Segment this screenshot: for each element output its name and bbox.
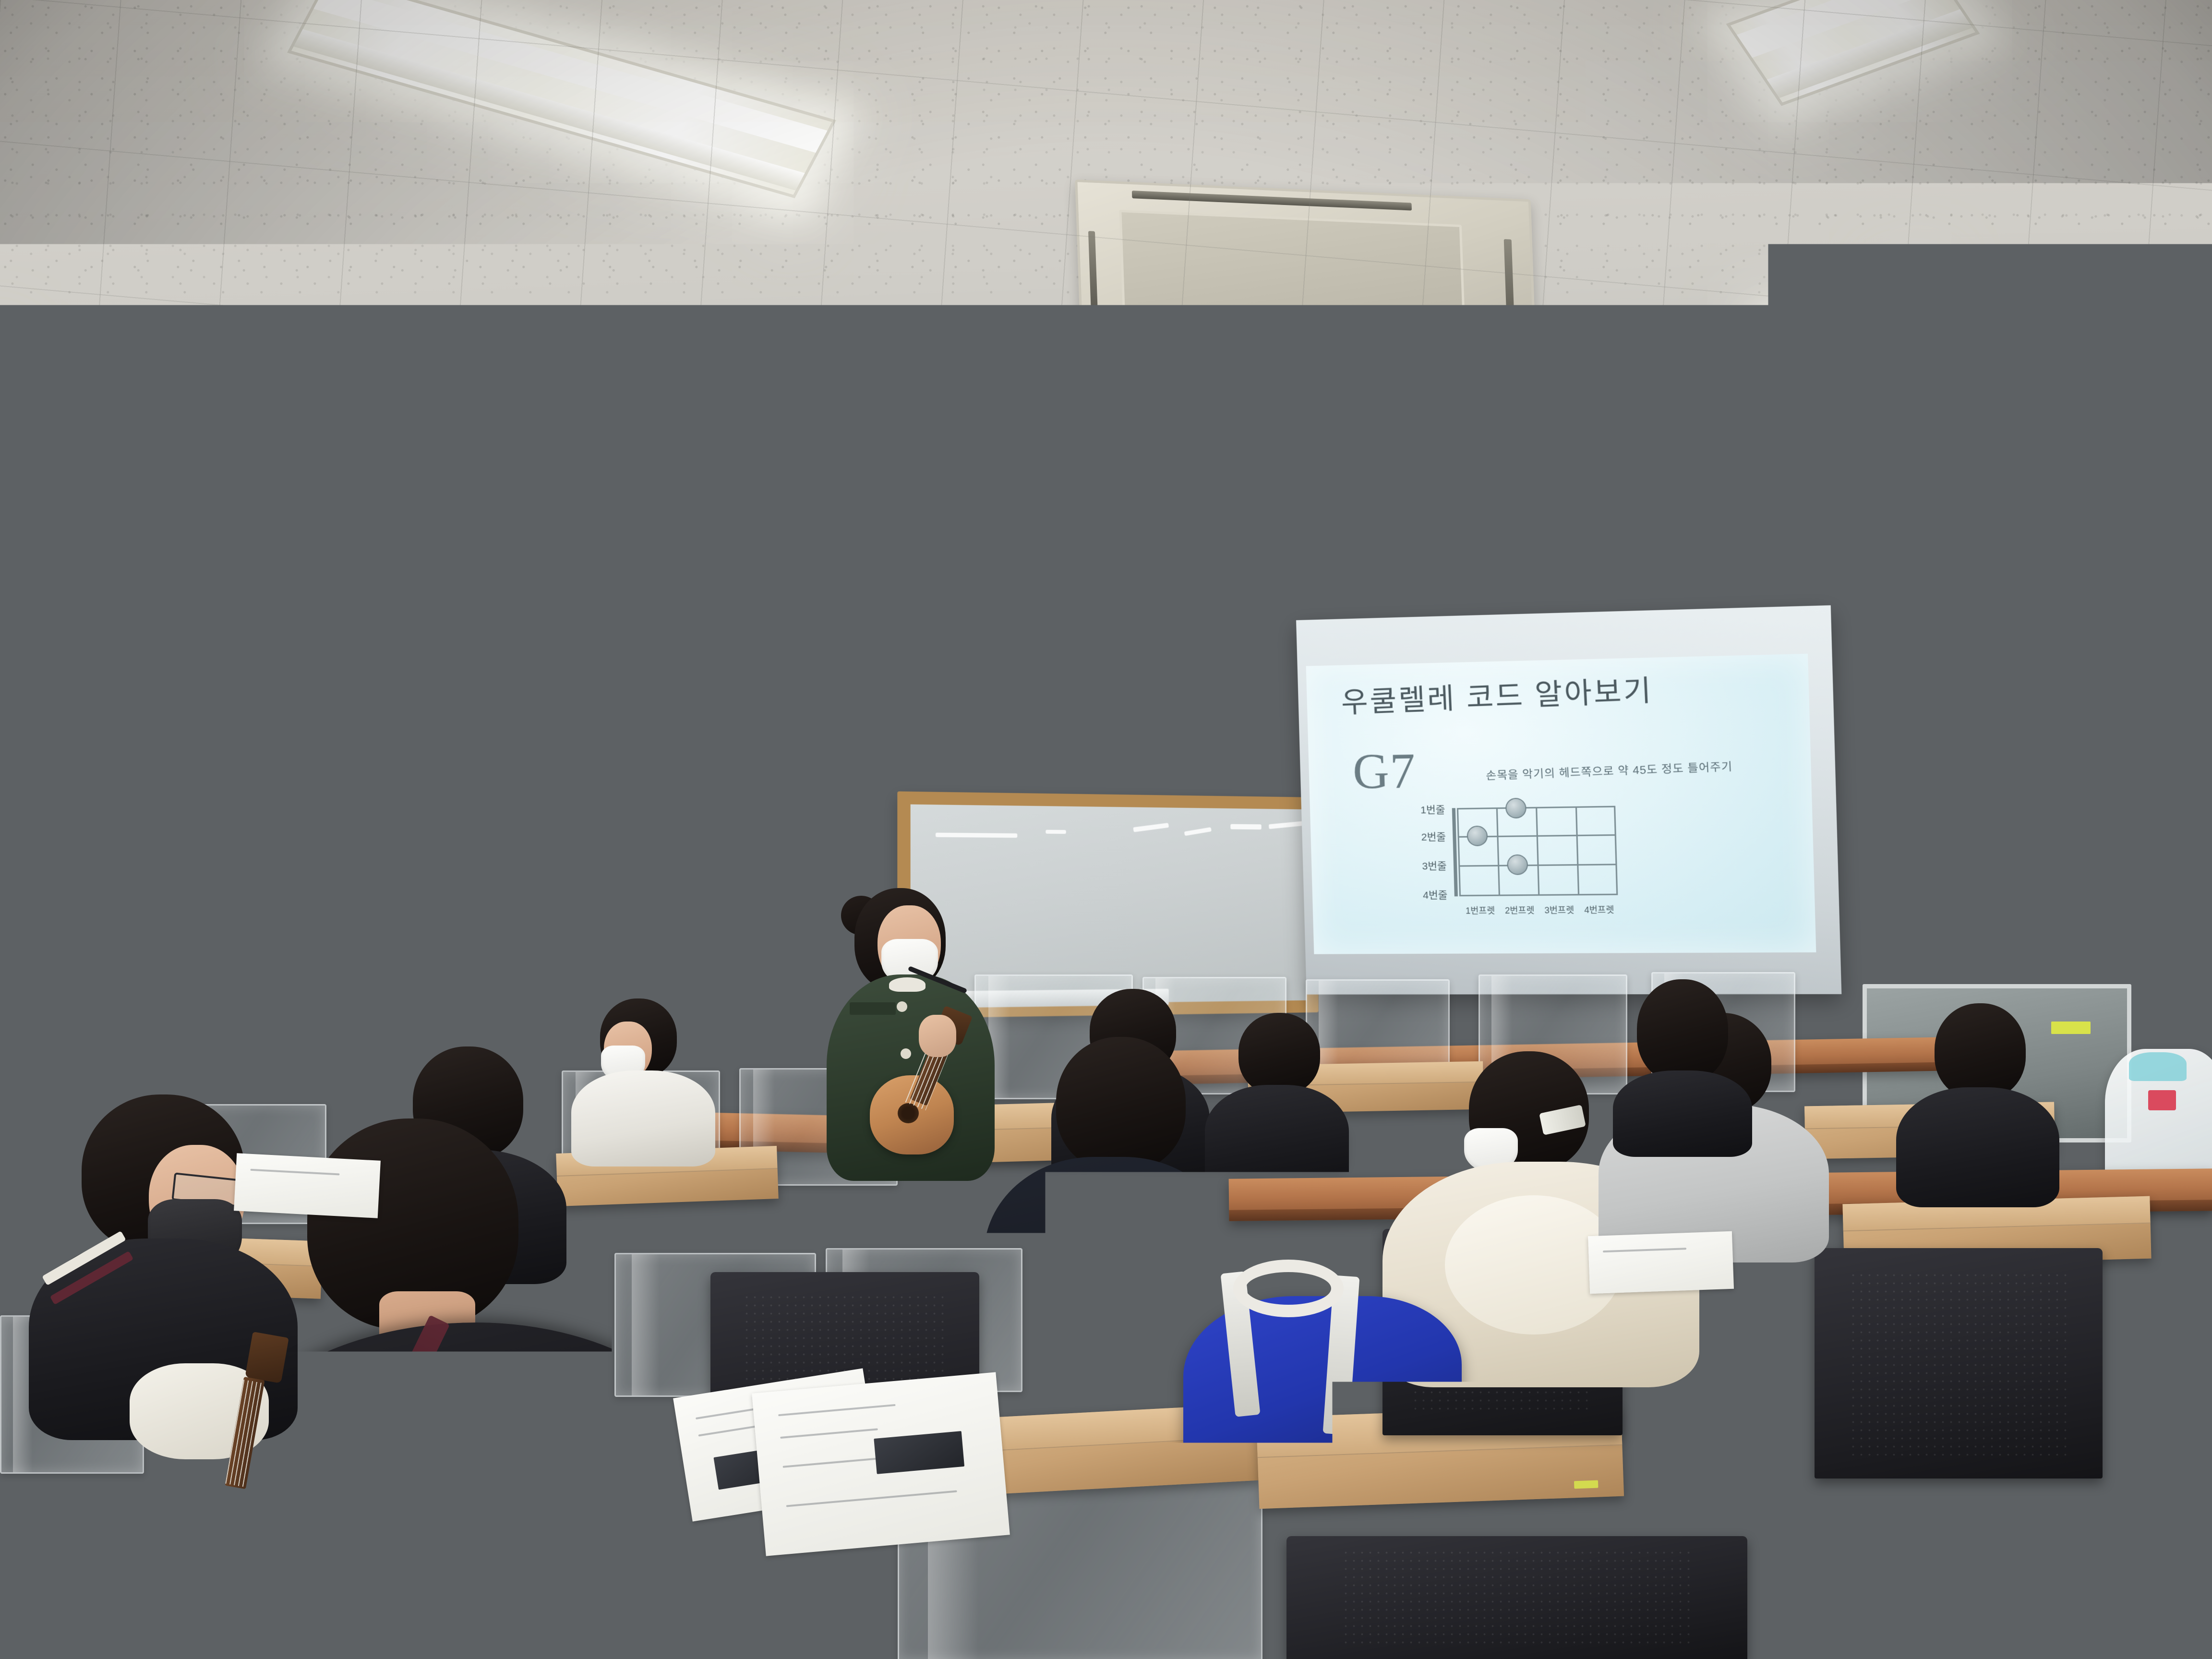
classroom-chair[interactable] [1815,1248,2103,1479]
ac-grille [1119,209,1466,334]
paper-text-line [1259,1247,1329,1252]
classroom-photo: 우쿨렐레 코드 알아보기 G7 ⇱ [0,0,2212,1659]
whiteboard-glare [1269,821,1303,829]
handout-sheet [1588,1231,1734,1294]
handout-sheet [234,1153,381,1218]
ac-vent [1132,191,1412,211]
paper-text-line [250,1169,339,1176]
student-backright [1608,979,1752,1138]
exit-arrow-icon: ⇱ [12,525,34,550]
jacket-text-administration: administration [382,1459,550,1498]
chord-string-label: 2번줄 [1421,829,1446,844]
student-head [1637,979,1728,1082]
emergency-exit-sign: ⇱ [0,509,46,566]
handout-sheet [752,1372,1010,1556]
instructor-hand [919,1015,956,1057]
chord-fret-label: 3번프렛 [1544,903,1575,916]
bag-strap-loop [1233,1260,1344,1317]
ceiling-projector [933,401,1093,493]
paper-text-line [786,1490,957,1507]
chord-string-label: 1번줄 [1420,802,1445,817]
chair-mesh [1849,1271,2068,1455]
chord-fret-label: 4번프렛 [1584,903,1614,916]
student-navy-center [984,1037,1234,1373]
classroom-chair[interactable] [1286,1536,1747,1659]
ac-vent [1088,231,1098,315]
chord-fret-label: 2번프렛 [1505,903,1535,916]
smoke-detector-icon [830,360,888,389]
student-head [1935,1003,2026,1099]
paper-figure [874,1431,964,1475]
chord-string-label: 3번줄 [1422,858,1447,873]
whiteboard-glare [1184,827,1212,836]
ceiling-light-fixture [287,0,836,198]
student-head [1056,1037,1186,1171]
chord-string-label: 4번줄 [1423,887,1448,902]
chord-finger-dot [1467,826,1488,846]
box-tape-label [1574,1480,1599,1489]
projector-mount-bracket [988,375,1047,420]
whiteboard-glare [936,833,1018,838]
smoke-detector-icon [581,427,624,449]
slide-instruction: 손목을 악기의 헤드쪽으로 약 45도 정도 틀어주기 [1485,757,1732,783]
student-top [1613,1070,1752,1157]
chord-finger-dot [1507,854,1528,875]
chair-mesh [1342,1549,1692,1648]
ceiling-light-fixture [1726,0,1980,106]
instructor-collar [889,977,926,992]
paper-text-line [1258,1228,1350,1235]
plastic-bag-teal-panel [2129,1052,2187,1081]
whiteboard-glare [1133,823,1169,832]
projection-screen: 우쿨렐레 코드 알아보기 G7 손목을 악기의 헤드쪽으로 약 45도 정도 틀… [1296,605,1841,995]
paper-text-line [1603,1248,1686,1252]
student-top [1896,1087,2059,1207]
smoke-detector-icon [1776,278,1824,303]
projector-label [941,468,979,484]
chord-fret-label: 1번프렛 [1466,904,1495,917]
blue-bag [1183,1296,1462,1498]
ceiling-ac-unit [1075,180,1536,365]
whiteboard-glare [1231,824,1262,829]
ceiling-light-fixture [0,352,217,445]
student-far-right [1896,1003,2059,1205]
slide-chord-name: G7 [1352,742,1417,800]
student-head [1238,1013,1320,1094]
poster-rail [2140,559,2212,570]
ceiling-light-fixture [995,471,1160,527]
slide-title: 우쿨렐레 코드 알아보기 [1340,667,1654,721]
whiteboard-glare [1046,830,1066,834]
paper-text-line [780,1428,878,1439]
projector-lens [943,427,986,460]
chord-diagram: 1번줄 2번줄 3번줄 4번줄 1번프렛 2번프렛 3번프렛 4번프렛 [1452,806,1618,897]
jacket-text-police: POLICE [337,1359,595,1438]
plastic-bag-logo-icon [2148,1090,2176,1110]
slide-content: 우쿨렐레 코드 알아보기 G7 손목을 악기의 헤드쪽으로 약 45도 정도 틀… [1306,654,1816,954]
ac-vent [1504,239,1515,333]
projector-mount-arm [961,376,979,427]
paper-text-line [778,1404,895,1416]
